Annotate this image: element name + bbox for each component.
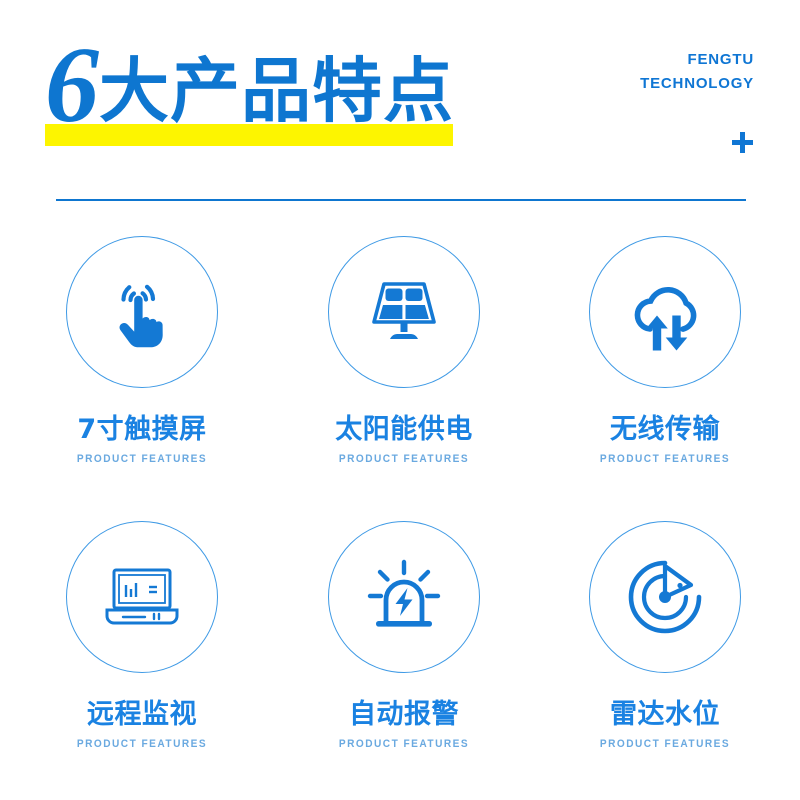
laptop-chart-icon — [99, 562, 185, 632]
feature-subtitle: PRODUCT FEATURES — [294, 453, 515, 465]
feature-item-wireless[interactable]: 无线传输 PRODUCT FEATURES — [545, 236, 785, 465]
touch-hand-icon — [99, 269, 185, 355]
icon-circle — [589, 521, 741, 673]
feature-item-solar-power[interactable]: 太阳能供电 PRODUCT FEATURES — [284, 236, 524, 465]
feature-subtitle: PRODUCT FEATURES — [294, 738, 515, 750]
icon-circle — [328, 236, 480, 388]
feature-subtitle: PRODUCT FEATURES — [555, 453, 776, 465]
cloud-transfer-icon — [620, 269, 710, 355]
header-divider — [56, 199, 746, 201]
radar-icon — [622, 554, 708, 640]
header: 6大产品特点 FENGTU TECHNOLOGY — [0, 0, 800, 200]
alarm-siren-icon — [361, 554, 447, 640]
feature-title: 雷达水位 — [545, 699, 785, 731]
feature-title: 远程监视 — [22, 699, 262, 731]
feature-subtitle: PRODUCT FEATURES — [32, 738, 253, 750]
feature-row-1: 7寸触摸屏 PRODUCT FEATURES 太阳能供电 P — [0, 236, 800, 521]
plus-icon — [730, 130, 754, 154]
brand-line-2: TECHNOLOGY — [640, 72, 754, 96]
feature-title: 7寸触摸屏 — [22, 414, 262, 446]
title-label: 大产品特点 — [99, 50, 454, 132]
icon-circle — [66, 236, 218, 388]
feature-item-touchscreen[interactable]: 7寸触摸屏 PRODUCT FEATURES — [22, 236, 262, 465]
title-number: 6 — [45, 26, 97, 145]
brand-line-1: FENGTU — [640, 48, 754, 72]
icon-circle — [589, 236, 741, 388]
feature-title: 太阳能供电 — [284, 414, 524, 446]
title-text: 6大产品特点 — [45, 34, 454, 163]
feature-title: 无线传输 — [545, 414, 785, 446]
feature-item-auto-alarm[interactable]: 自动报警 PRODUCT FEATURES — [284, 521, 524, 750]
feature-item-remote-monitoring[interactable]: 远程监视 PRODUCT FEATURES — [22, 521, 262, 750]
feature-subtitle: PRODUCT FEATURES — [555, 738, 776, 750]
feature-title: 自动报警 — [284, 699, 524, 731]
icon-circle — [328, 521, 480, 673]
feature-item-radar-water-level[interactable]: 雷达水位 PRODUCT FEATURES — [545, 521, 785, 750]
plus-icon-vertical — [740, 132, 745, 153]
feature-subtitle: PRODUCT FEATURES — [32, 453, 253, 465]
brand-block: FENGTU TECHNOLOGY — [640, 48, 754, 96]
solar-panel-icon — [361, 274, 447, 350]
feature-row-2: 远程监视 PRODUCT FEATURES — [0, 521, 800, 800]
icon-circle — [66, 521, 218, 673]
feature-poster: 6大产品特点 FENGTU TECHNOLOGY — [0, 0, 800, 800]
feature-grid: 7寸触摸屏 PRODUCT FEATURES 太阳能供电 P — [0, 236, 800, 800]
